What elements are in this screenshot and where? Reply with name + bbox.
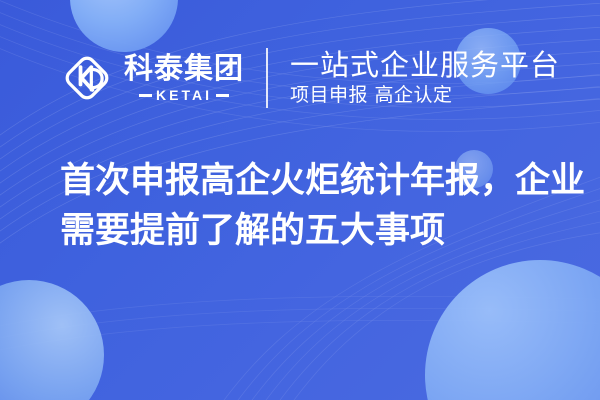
dash-right-icon [216, 94, 229, 97]
tagline-main: 一站式企业服务平台 [290, 50, 560, 81]
headline: 首次申报高企火炬统计年报，企业 需要提前了解的五大事项 [60, 156, 560, 256]
headline-line-1: 首次申报高企火炬统计年报，企业 [60, 156, 560, 206]
banner-header: 科泰集团 KETAI 一站式企业服务平台 项目申报 高企认定 [0, 42, 600, 114]
headline-line-2: 需要提前了解的五大事项 [60, 206, 560, 256]
promo-banner: 科泰集团 KETAI 一站式企业服务平台 项目申报 高企认定 首次申报高企火炬统… [0, 0, 600, 400]
ketai-kd-monogram-diamond-icon [60, 51, 114, 105]
brand-name-en: KETAI [156, 88, 212, 102]
header-divider [266, 48, 268, 108]
decorative-circle-bottom-right [425, 260, 600, 400]
brand-name-cn: 科泰集团 [124, 54, 244, 83]
decorative-circle-bottom-left [0, 280, 104, 400]
brand-name-en-row: KETAI [139, 88, 229, 102]
tagline-block: 一站式企业服务平台 项目申报 高企认定 [290, 50, 560, 106]
dash-left-icon [139, 94, 152, 97]
brand-logo: 科泰集团 KETAI [60, 51, 244, 105]
tagline-sub: 项目申报 高企认定 [290, 85, 560, 106]
brand-logo-wordmark: 科泰集团 KETAI [124, 54, 244, 102]
